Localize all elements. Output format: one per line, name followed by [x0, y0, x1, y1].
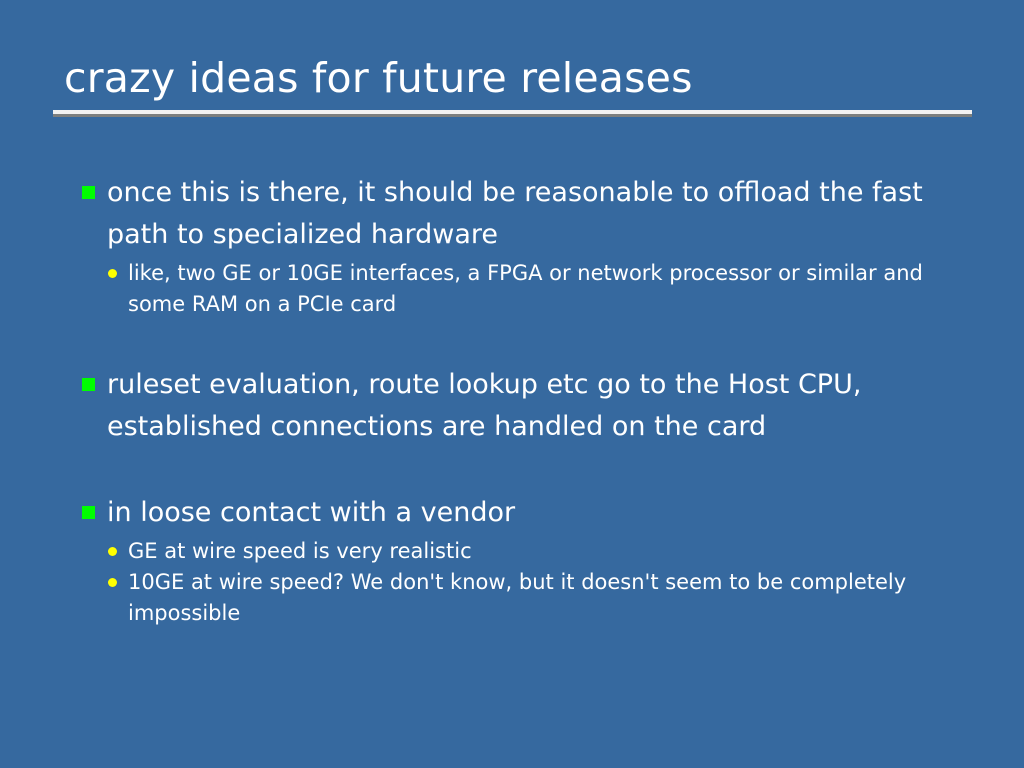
list-item-level2-label: 10GE at wire speed? We don't know, but i…	[128, 567, 958, 629]
bullet-group: once this is there, it should be reasona…	[78, 172, 958, 320]
title-divider	[53, 110, 972, 117]
square-bullet-icon	[82, 378, 95, 391]
list-item-level1-label: once this is there, it should be reasona…	[107, 172, 952, 256]
title-block: crazy ideas for future releases	[53, 52, 972, 117]
square-bullet-icon	[82, 506, 95, 519]
sublist: GE at wire speed is very realistic 10GE …	[78, 536, 958, 629]
list-item-level2-label: GE at wire speed is very realistic	[128, 536, 958, 567]
bullet-group: ruleset evaluation, route lookup etc go …	[78, 364, 958, 448]
list-item-level2: 10GE at wire speed? We don't know, but i…	[78, 567, 958, 629]
sublist: like, two GE or 10GE interfaces, a FPGA …	[78, 258, 958, 320]
list-item-level1: once this is there, it should be reasona…	[78, 172, 958, 256]
list-item-level1: ruleset evaluation, route lookup etc go …	[78, 364, 958, 448]
slide: crazy ideas for future releases once thi…	[0, 0, 1024, 768]
list-item-level1-label: in loose contact with a vendor	[107, 492, 952, 534]
round-bullet-icon	[108, 578, 117, 587]
square-bullet-icon	[82, 186, 95, 199]
list-item-level1: in loose contact with a vendor	[78, 492, 958, 534]
bullet-group: in loose contact with a vendor GE at wir…	[78, 492, 958, 629]
list-item-level1-label: ruleset evaluation, route lookup etc go …	[107, 364, 952, 448]
list-item-level2: GE at wire speed is very realistic	[78, 536, 958, 567]
page-title: crazy ideas for future releases	[53, 52, 972, 104]
list-item-level2-label: like, two GE or 10GE interfaces, a FPGA …	[128, 258, 958, 320]
bullet-list: once this is there, it should be reasona…	[78, 172, 958, 629]
round-bullet-icon	[108, 547, 117, 556]
title-divider-shadow	[53, 114, 972, 117]
list-item-level2: like, two GE or 10GE interfaces, a FPGA …	[78, 258, 958, 320]
round-bullet-icon	[108, 269, 117, 278]
